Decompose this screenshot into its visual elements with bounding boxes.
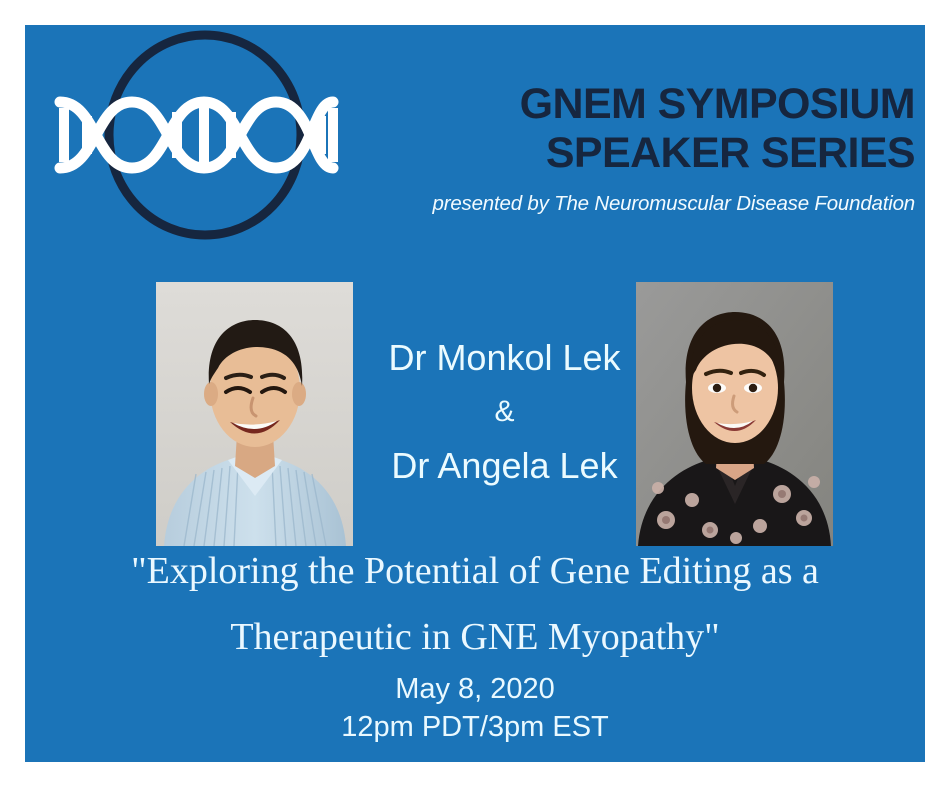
event-date: May 8, 2020 bbox=[25, 670, 925, 708]
poster-root: GNEM SYMPOSIUM SPEAKER SERIES presented … bbox=[0, 0, 940, 788]
symposium-title-line-1: GNEM SYMPOSIUM bbox=[370, 80, 915, 129]
speaker-name-second: Dr Angela Lek bbox=[378, 438, 631, 494]
symposium-title-line-2: SPEAKER SERIES bbox=[370, 129, 915, 178]
talk-title: "Exploring the Potential of Gene Editing… bbox=[25, 538, 925, 670]
speaker-photo-angela-lek bbox=[636, 282, 833, 546]
presented-by-text: presented by The Neuromuscular Disease F… bbox=[370, 192, 915, 216]
speaker-names-ampersand: & bbox=[378, 386, 631, 438]
talk-title-line-1: "Exploring the Potential of Gene Editing… bbox=[25, 538, 925, 604]
speaker-name-first: Dr Monkol Lek bbox=[378, 330, 631, 386]
event-details: May 8, 2020 12pm PDT/3pm EST bbox=[25, 670, 925, 746]
talk-title-line-2: Therapeutic in GNE Myopathy" bbox=[25, 604, 925, 670]
dna-helix-in-circle-logo bbox=[33, 30, 343, 240]
brand-block: GNEM SYMPOSIUM SPEAKER SERIES presented … bbox=[370, 80, 915, 216]
speaker-photo-monkol-lek bbox=[156, 282, 353, 546]
flyer-panel: GNEM SYMPOSIUM SPEAKER SERIES presented … bbox=[25, 25, 925, 762]
speaker-names-block: Dr Monkol Lek & Dr Angela Lek bbox=[378, 330, 631, 494]
event-time: 12pm PDT/3pm EST bbox=[25, 708, 925, 746]
